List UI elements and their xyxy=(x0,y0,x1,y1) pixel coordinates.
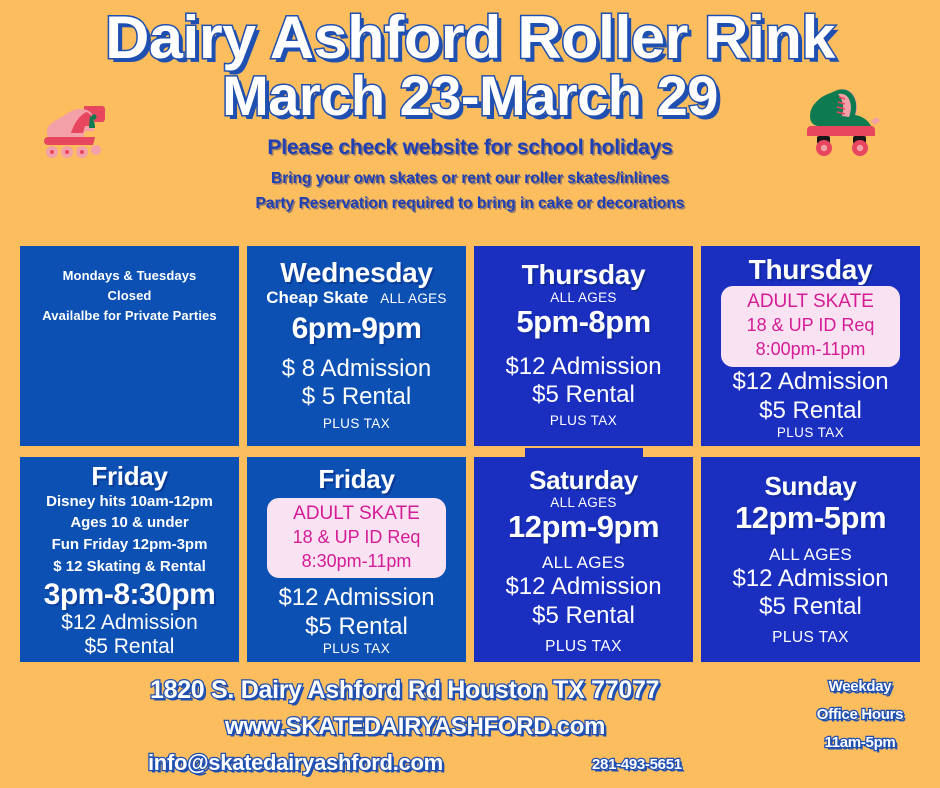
plus-tax-label: PLUS TAX xyxy=(550,413,617,428)
ages-limit-line: Ages 10 & under xyxy=(70,512,188,534)
card-thursday-adult-skate[interactable]: Thursday ADULT SKATE 18 & UP ID Req 8:00… xyxy=(701,246,920,446)
plus-tax-label: PLUS TAX xyxy=(323,416,390,431)
all-ages-label: ALL AGES xyxy=(769,545,852,565)
adult-skate-title: ADULT SKATE xyxy=(731,289,890,314)
admission-price: $12 Admission xyxy=(278,584,434,612)
rental-price: $5 Rental xyxy=(305,613,408,641)
admission-price: $12 Admission xyxy=(732,368,888,396)
card-saturday[interactable]: Saturday ALL AGES 12pm-9pm ALL AGES $12 … xyxy=(474,457,693,662)
adult-skate-id-requirement: 18 & UP ID Req xyxy=(731,314,890,338)
office-hours-line-1: Weekday xyxy=(795,678,925,695)
closed-line-1: Mondays & Tuesdays xyxy=(63,266,197,286)
adult-skate-badge: ADULT SKATE 18 & UP ID Req 8:00pm-11pm xyxy=(721,286,900,367)
rental-price: $5 Rental xyxy=(532,381,635,409)
card-friday-adult-skate[interactable]: Friday ADULT SKATE 18 & UP ID Req 8:30pm… xyxy=(247,457,466,662)
rental-price: $5 Rental xyxy=(759,593,862,621)
card-day-title: Thursday xyxy=(522,260,646,290)
office-hours-line-3: 11am-5pm xyxy=(795,734,925,751)
office-hours-line-2: Office Hours xyxy=(795,706,925,723)
card-time: 3pm-8:30pm xyxy=(44,578,216,611)
rental-price: $5 Rental xyxy=(85,635,175,660)
party-reservation-note: Party Reservation required to bring in c… xyxy=(0,195,940,213)
rental-price: $5 Rental xyxy=(759,397,862,425)
poster-header: Dairy Ashford Roller Rink March 23-March… xyxy=(0,0,940,236)
adult-skate-title: ADULT SKATE xyxy=(277,501,436,526)
card-day-title: Sunday xyxy=(764,473,856,501)
rental-price: $5 Rental xyxy=(532,602,635,630)
skate-rental-note: Bring your own skates or rent our roller… xyxy=(0,170,940,188)
card-time: 12pm-5pm xyxy=(735,501,886,535)
cheap-skate-label: Cheap Skate xyxy=(266,288,368,308)
card-day-title: Thursday xyxy=(749,255,873,285)
card-day-title: Wednesday xyxy=(280,258,432,288)
schedule-grid: Mondays & Tuesdays Closed Availalbe for … xyxy=(20,246,920,662)
card-day-title: Friday xyxy=(91,463,167,491)
admission-price: $12 Admission xyxy=(505,353,661,381)
card-wednesday[interactable]: Wednesday Cheap Skate ALL AGES 6pm-9pm $… xyxy=(247,246,466,446)
poster-footer: 1820 S. Dairy Ashford Rd Houston TX 7707… xyxy=(0,668,940,788)
date-range-title: March 23-March 29 xyxy=(0,66,940,122)
plus-tax-label: PLUS TAX xyxy=(323,641,390,656)
roller-skate-icon xyxy=(805,85,887,164)
fun-friday-price-line: $ 12 Skating & Rental xyxy=(53,556,206,578)
card-friday-day[interactable]: Friday Disney hits 10am-12pm Ages 10 & u… xyxy=(20,457,239,662)
admission-price: $12 Admission xyxy=(732,565,888,593)
website-link[interactable]: www.SKATEDAIRYASHFORD.com xyxy=(225,713,605,741)
plus-tax-label: PLUS TAX xyxy=(777,425,844,440)
fun-friday-line: Fun Friday 12pm-3pm xyxy=(52,534,208,556)
rental-price: $ 5 Rental xyxy=(302,383,411,411)
plus-tax-label: PLUS TAX xyxy=(545,638,622,656)
address-text: 1820 S. Dairy Ashford Rd Houston TX 7707… xyxy=(150,676,659,705)
adult-skate-badge: ADULT SKATE 18 & UP ID Req 8:30pm-11pm xyxy=(267,498,446,579)
card-day-title: Saturday xyxy=(529,467,638,495)
adult-skate-time: 8:00pm-11pm xyxy=(731,338,890,362)
admission-price: $ 8 Admission xyxy=(282,355,431,383)
all-ages-label: ALL AGES xyxy=(380,291,446,306)
all-ages-label: ALL AGES xyxy=(550,290,616,305)
admission-price: $12 Admission xyxy=(505,573,661,601)
disney-hits-line: Disney hits 10am-12pm xyxy=(46,491,213,513)
phone-number[interactable]: 281-493-5651 xyxy=(592,756,682,773)
all-ages-label-top: ALL AGES xyxy=(550,495,616,510)
card-day-title: Friday xyxy=(318,466,394,494)
card-time: 12pm-9pm xyxy=(508,510,659,544)
closed-line-3: Availalbe for Private Parties xyxy=(42,306,216,326)
all-ages-label: ALL AGES xyxy=(542,553,625,573)
holiday-note: Please check website for school holidays xyxy=(0,136,940,160)
adult-skate-time: 8:30pm-11pm xyxy=(277,550,436,574)
admission-price: $12 Admission xyxy=(61,611,198,636)
email-link[interactable]: info@skatedairyashford.com xyxy=(148,750,443,776)
office-hours-block: Weekday Office Hours 11am-5pm xyxy=(795,678,925,762)
card-time: 6pm-9pm xyxy=(292,312,422,345)
card-sunday[interactable]: Sunday 12pm-5pm ALL AGES $12 Admission $… xyxy=(701,457,920,662)
adult-skate-id-requirement: 18 & UP ID Req xyxy=(277,526,436,550)
card-closed[interactable]: Mondays & Tuesdays Closed Availalbe for … xyxy=(20,246,239,446)
closed-line-2: Closed xyxy=(108,286,152,306)
card-time: 5pm-8pm xyxy=(516,305,650,339)
page-title: Dairy Ashford Roller Rink xyxy=(0,0,940,66)
plus-tax-label: PLUS TAX xyxy=(772,629,849,647)
card-thursday-all-ages[interactable]: Thursday ALL AGES 5pm-8pm $12 Admission … xyxy=(474,246,693,446)
inline-skate-icon xyxy=(40,100,112,167)
